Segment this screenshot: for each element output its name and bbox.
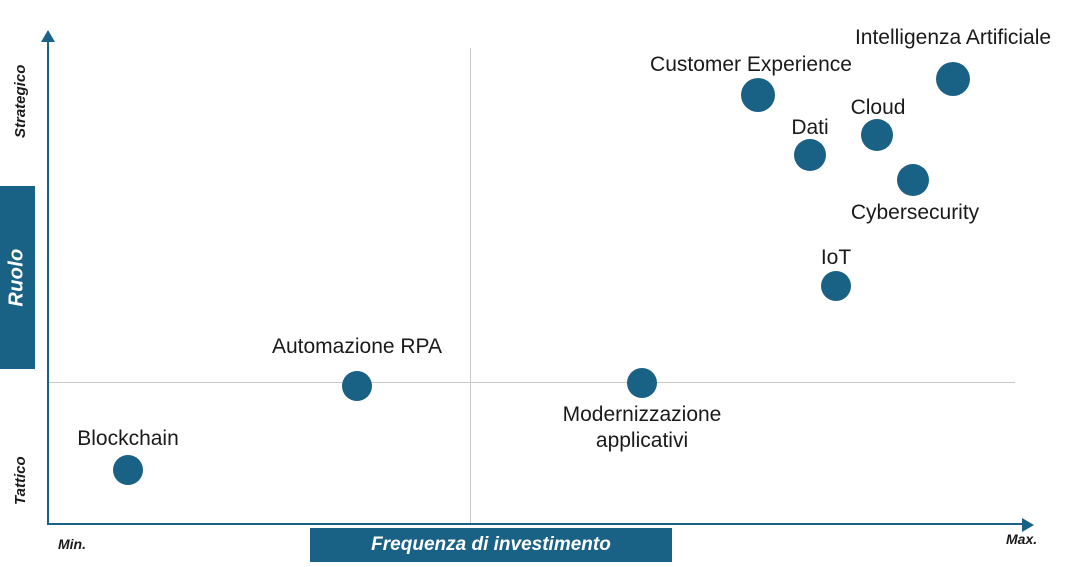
x-axis-min-label: Min.	[58, 536, 86, 552]
x-axis-title-text: Frequenza di investimento	[371, 534, 611, 556]
y-axis-min-label: Tattico	[12, 456, 29, 505]
point-label-modernizzazione-applicativi: Modernizzazione applicativi	[532, 402, 752, 453]
point-label-blockchain: Blockchain	[58, 426, 198, 452]
bubble-dati[interactable]	[794, 139, 826, 171]
x-axis-title-band: Frequenza di investimento	[310, 528, 672, 562]
y-axis-max-label: Strategico	[12, 65, 29, 138]
point-label-line-1: Modernizzazione	[532, 402, 752, 428]
x-axis-max-label: Max.	[1006, 531, 1037, 547]
point-label-automazione-rpa: Automazione RPA	[247, 334, 467, 360]
point-label-intelligenza-artificiale: Intelligenza Artificiale	[843, 25, 1063, 51]
bubble-customer-experience[interactable]	[741, 78, 775, 112]
point-label-dati: Dati	[750, 115, 870, 141]
point-label-customer-experience: Customer Experience	[643, 52, 859, 78]
gridline-horizontal	[48, 382, 1015, 383]
point-label-line-2: applicativi	[532, 428, 752, 454]
y-axis-title-band: Ruolo	[0, 186, 35, 369]
bubble-blockchain[interactable]	[113, 455, 143, 485]
y-axis-arrow-icon	[41, 30, 55, 42]
bubble-cybersecurity[interactable]	[897, 164, 929, 196]
gridline-vertical	[470, 48, 471, 524]
bubble-automazione-rpa[interactable]	[342, 371, 372, 401]
point-label-iot: IoT	[786, 245, 886, 271]
y-axis-title-text: Ruolo	[6, 248, 29, 306]
x-axis-line	[48, 523, 1026, 525]
x-axis-arrow-icon	[1022, 518, 1034, 532]
bubble-intelligenza-artificiale[interactable]	[936, 62, 970, 96]
bubble-modernizzazione-applicativi[interactable]	[627, 368, 657, 398]
y-axis-line	[47, 40, 49, 525]
quadrant-bubble-chart: Ruolo Frequenza di investimento Min. Max…	[0, 0, 1068, 567]
bubble-iot[interactable]	[821, 271, 851, 301]
point-label-cybersecurity: Cybersecurity	[825, 200, 1005, 226]
